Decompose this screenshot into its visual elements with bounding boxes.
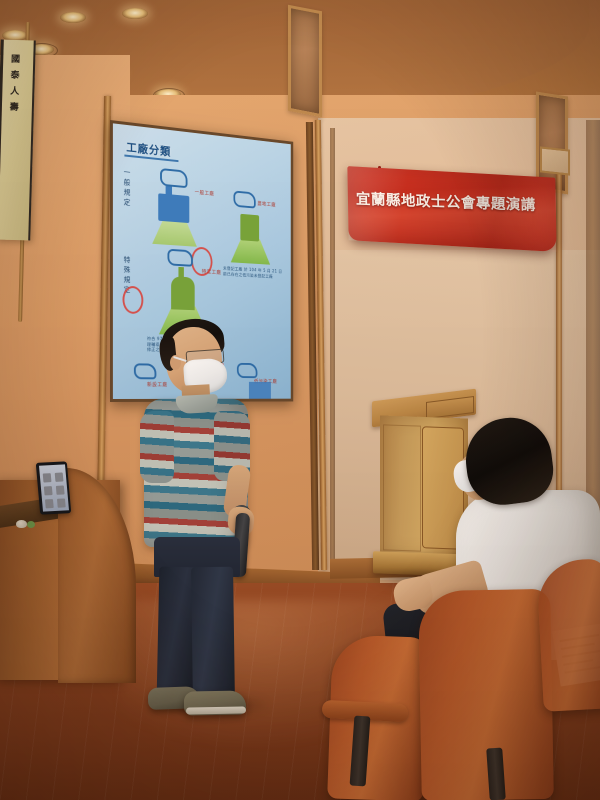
podium-side-panel xyxy=(383,424,421,551)
auditorium-seat[interactable] xyxy=(536,558,600,711)
auditorium-seat[interactable] xyxy=(418,589,554,800)
tablet-device[interactable] xyxy=(36,461,72,514)
factory-icon xyxy=(171,276,195,310)
slide-label: 一般工廠 xyxy=(195,189,215,197)
presenter xyxy=(140,315,270,715)
factory-chimney-icon xyxy=(178,267,183,281)
desk-object xyxy=(16,520,27,528)
presenter-sleeve-left xyxy=(140,411,174,483)
wall-speaker-panel xyxy=(288,5,322,118)
factory-icon xyxy=(158,193,189,223)
smoke-icon xyxy=(233,191,255,209)
smoke-icon xyxy=(160,168,187,188)
downlight-icon xyxy=(60,12,86,23)
slide-label: 農地工廠 xyxy=(257,200,275,208)
tablet-screen xyxy=(39,464,69,511)
presenter-shoe-sole xyxy=(186,706,246,714)
circle-mark-icon xyxy=(122,286,143,315)
slide-note: 未登記工廠 於 104 年 5 月 21 日前已存在之低污染未登記工廠 xyxy=(223,266,286,280)
presenter-leg-right xyxy=(191,567,235,704)
wall-trim xyxy=(330,128,335,568)
desk-object xyxy=(27,521,35,528)
wall-frame xyxy=(540,146,570,175)
vertical-scroll-banner: 國泰人壽 xyxy=(0,40,36,241)
event-banner-text: 宜蘭縣地政士公會專題演講 xyxy=(356,188,548,216)
slide-label: 特定工廠 xyxy=(202,268,221,276)
slide-left-label-top: 一般規定 xyxy=(122,168,129,208)
factory-chimney-icon xyxy=(166,186,172,200)
lecture-hall-photo: 國泰人壽 工廠分類 一般規定 特殊規定 一般工廠 農地工廠 未登記工廠 於 10… xyxy=(0,0,600,800)
downlight-icon xyxy=(122,8,148,19)
event-banner: 宜蘭縣地政士公會專題演講 xyxy=(347,166,556,252)
factory-icon xyxy=(240,214,259,242)
smoke-icon xyxy=(167,249,192,267)
scroll-banner-text: 國泰人壽 xyxy=(7,54,20,118)
